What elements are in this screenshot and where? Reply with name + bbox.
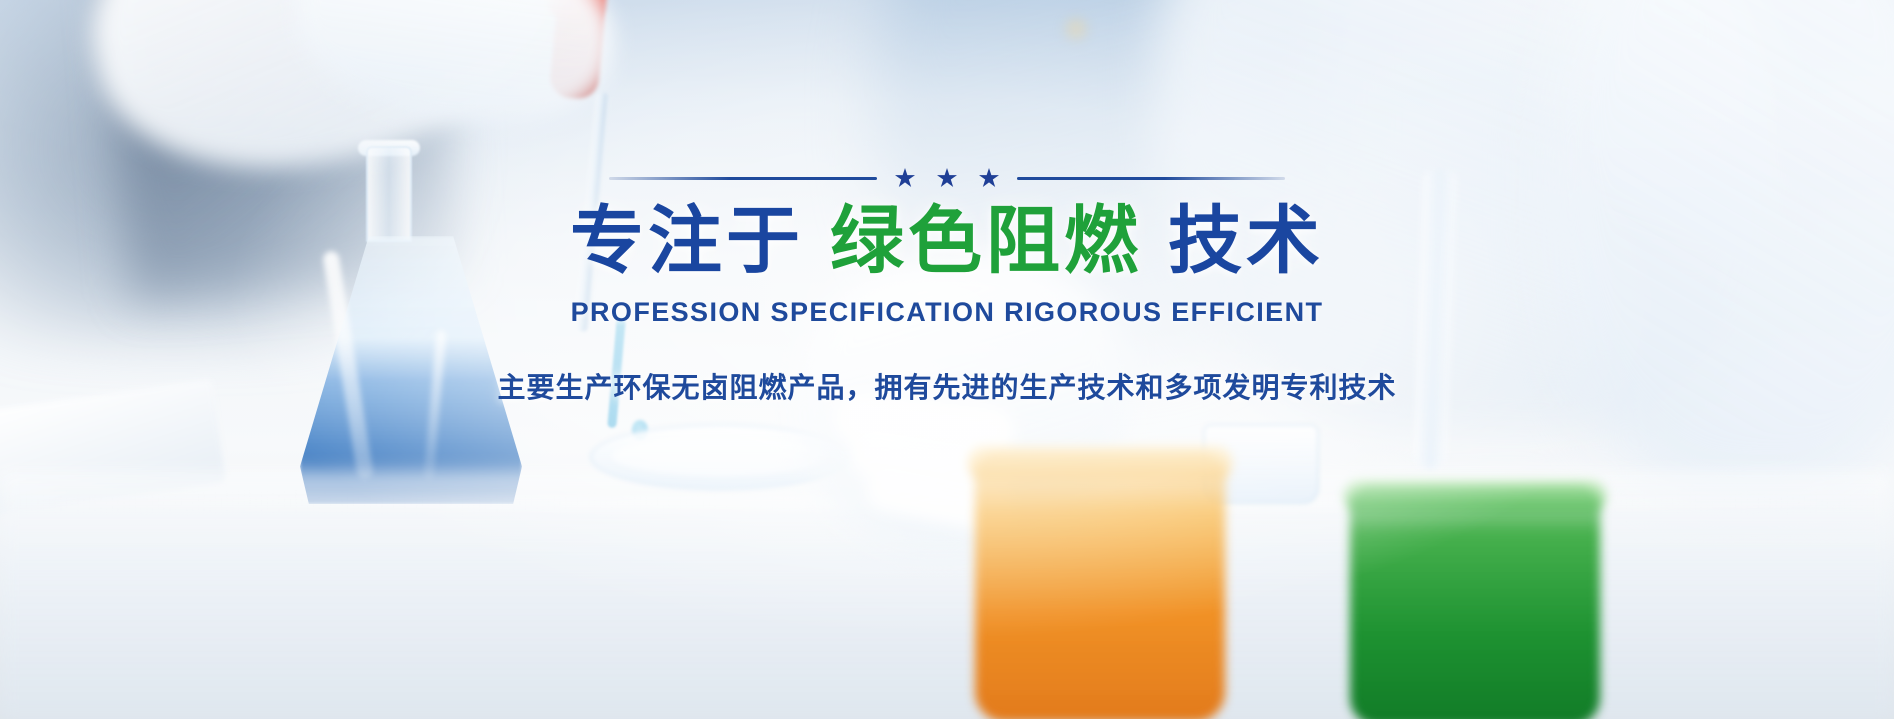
decorative-divider — [609, 168, 1285, 188]
page-title: 专注于绿色阻燃技术 — [570, 200, 1324, 283]
headline-part-2: 绿色阻燃 — [830, 199, 1142, 282]
tagline: 主要生产环保无卤阻燃产品，拥有先进的生产技术和多项发明专利技术 — [497, 366, 1396, 406]
banner-content: 专注于绿色阻燃技术 PROFESSION SPECIFICATION RIGOR… — [0, 0, 1894, 719]
headline-part-3: 技术 — [1168, 199, 1324, 282]
subtitle: PROFESSION SPECIFICATION RIGOROUS EFFICI… — [571, 297, 1324, 328]
star-icon — [937, 168, 957, 188]
hero-banner: 专注于绿色阻燃技术 PROFESSION SPECIFICATION RIGOR… — [0, 0, 1894, 719]
star-icon — [895, 168, 915, 188]
star-group — [895, 168, 999, 188]
divider-rule-left — [609, 177, 877, 180]
headline-part-1: 专注于 — [570, 199, 804, 282]
divider-rule-right — [1017, 177, 1285, 180]
star-icon — [979, 168, 999, 188]
